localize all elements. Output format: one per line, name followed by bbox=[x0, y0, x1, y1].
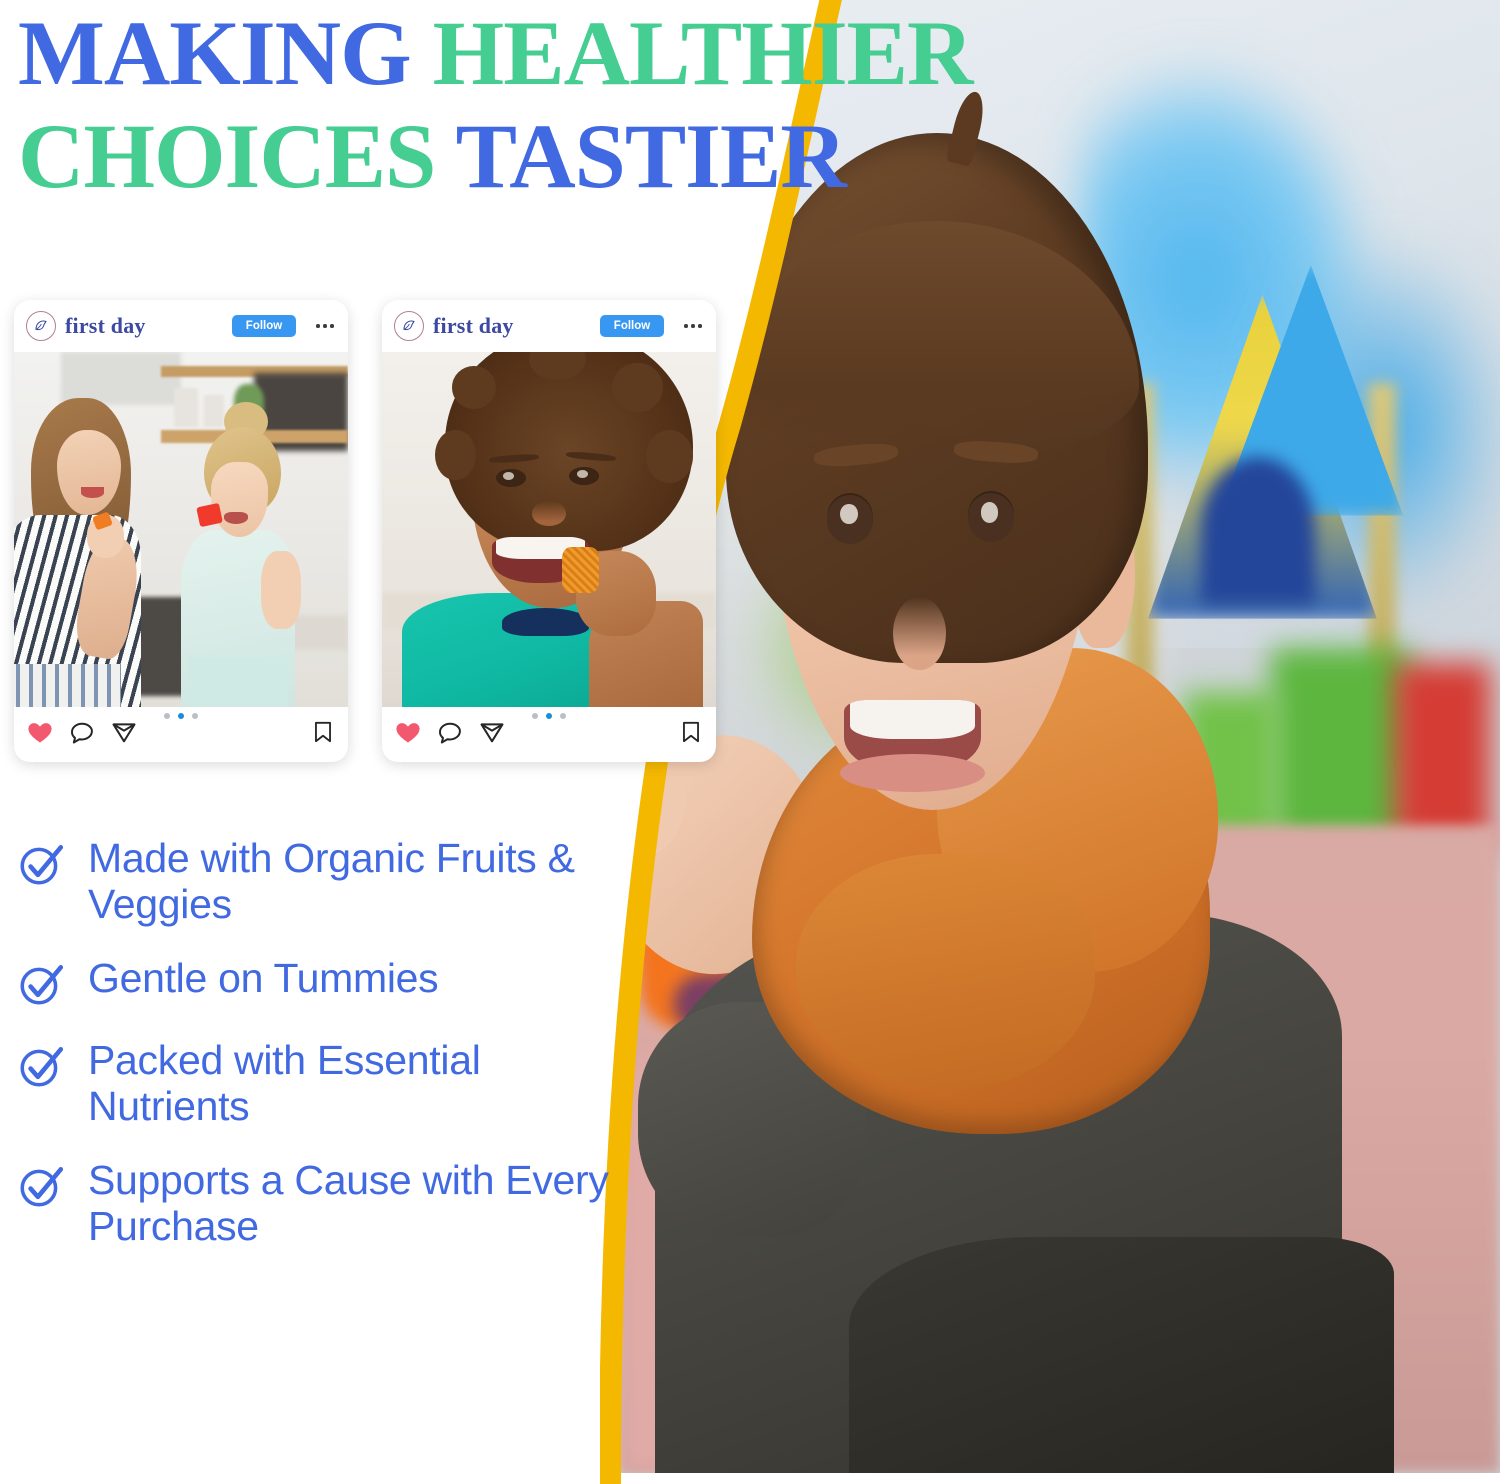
bird-logo-icon[interactable] bbox=[394, 311, 424, 341]
headline-line-2: CHOICES TASTIER bbox=[18, 105, 1018, 208]
comment-icon[interactable] bbox=[68, 718, 96, 751]
mother-skirt bbox=[14, 664, 121, 707]
boy-eye-right bbox=[968, 493, 1015, 542]
post-action-bar bbox=[14, 707, 348, 762]
more-options-icon[interactable] bbox=[305, 324, 336, 328]
bird-logo-icon[interactable] bbox=[26, 311, 56, 341]
hero-photo-background bbox=[620, 0, 1500, 1473]
follow-button[interactable]: Follow bbox=[600, 315, 664, 337]
send-icon[interactable] bbox=[110, 718, 138, 751]
carousel-indicator bbox=[14, 713, 348, 719]
check-circle-icon bbox=[16, 840, 66, 890]
follow-button[interactable]: Follow bbox=[232, 315, 296, 337]
headline-word-tastier: TASTIER bbox=[456, 105, 846, 207]
kitchen-jar-2 bbox=[204, 395, 224, 427]
benefit-item: Packed with Essential Nutrients bbox=[16, 1038, 646, 1130]
headline-word-healthier: HEALTHIER bbox=[433, 2, 973, 104]
snack-piece bbox=[562, 547, 599, 593]
carousel-dot-active[interactable] bbox=[178, 713, 184, 719]
headline-line-1: MAKING HEALTHIER bbox=[18, 2, 1018, 105]
carousel-dot[interactable] bbox=[532, 713, 538, 719]
carousel-dot[interactable] bbox=[192, 713, 198, 719]
child-mouth bbox=[224, 512, 247, 524]
social-card[interactable]: first day Follow bbox=[382, 300, 716, 762]
benefit-label: Made with Organic Fruits & Veggies bbox=[88, 836, 646, 928]
page-title: MAKING HEALTHIER CHOICES TASTIER bbox=[18, 2, 1018, 208]
benefit-item: Made with Organic Fruits & Veggies bbox=[16, 836, 646, 928]
boy-teeth bbox=[850, 700, 975, 739]
heart-icon[interactable] bbox=[26, 718, 54, 751]
benefit-item: Supports a Cause with Every Purchase bbox=[16, 1158, 646, 1250]
account-name: first day bbox=[65, 313, 146, 339]
headline-word-choices: CHOICES bbox=[18, 105, 456, 207]
toddler-curl bbox=[435, 430, 475, 480]
send-icon[interactable] bbox=[478, 718, 506, 751]
snack-piece-child bbox=[196, 502, 223, 526]
social-cards-row: first day Follow bbox=[14, 300, 716, 762]
carousel-dot-active[interactable] bbox=[546, 713, 552, 719]
boy-eye-left bbox=[827, 495, 874, 544]
comment-icon[interactable] bbox=[436, 718, 464, 751]
benefit-label: Supports a Cause with Every Purchase bbox=[88, 1158, 646, 1250]
headline-word-making: MAKING bbox=[18, 2, 433, 104]
boy-pants bbox=[849, 1237, 1395, 1473]
benefit-item: Gentle on Tummies bbox=[16, 956, 646, 1010]
benefit-label: Gentle on Tummies bbox=[88, 956, 438, 1002]
kitchen-jar-1 bbox=[174, 388, 197, 427]
account-name: first day bbox=[433, 313, 514, 339]
social-card-header: first day Follow bbox=[14, 300, 348, 352]
check-circle-icon bbox=[16, 960, 66, 1010]
benefits-list: Made with Organic Fruits & Veggies Gentl… bbox=[16, 836, 646, 1249]
heart-icon[interactable] bbox=[394, 718, 422, 751]
post-action-bar bbox=[382, 707, 716, 762]
child-arm bbox=[261, 551, 301, 629]
toddler-curl bbox=[612, 363, 662, 413]
hero-photo bbox=[620, 0, 1500, 1473]
carousel-dot[interactable] bbox=[164, 713, 170, 719]
boy-figure bbox=[620, 0, 1500, 1473]
post-image bbox=[382, 352, 716, 707]
toddler-curl bbox=[646, 430, 693, 483]
carousel-dot[interactable] bbox=[560, 713, 566, 719]
mother-smile bbox=[81, 487, 104, 498]
boy-nose bbox=[893, 597, 946, 671]
toddler-nose bbox=[532, 501, 565, 526]
toddler-curl bbox=[452, 366, 495, 409]
more-options-icon[interactable] bbox=[673, 324, 704, 328]
boy-hoodie-fold-2 bbox=[796, 854, 1095, 1090]
bookmark-icon[interactable] bbox=[678, 719, 704, 750]
carousel-indicator bbox=[382, 713, 716, 719]
social-card[interactable]: first day Follow bbox=[14, 300, 348, 762]
toddler-eye-left bbox=[496, 469, 526, 487]
check-circle-icon bbox=[16, 1162, 66, 1212]
social-card-header: first day Follow bbox=[382, 300, 716, 352]
benefit-label: Packed with Essential Nutrients bbox=[88, 1038, 646, 1130]
bookmark-icon[interactable] bbox=[310, 719, 336, 750]
toddler-collar bbox=[502, 608, 589, 636]
post-image bbox=[14, 352, 348, 707]
child-pants bbox=[188, 657, 288, 707]
check-circle-icon bbox=[16, 1042, 66, 1092]
